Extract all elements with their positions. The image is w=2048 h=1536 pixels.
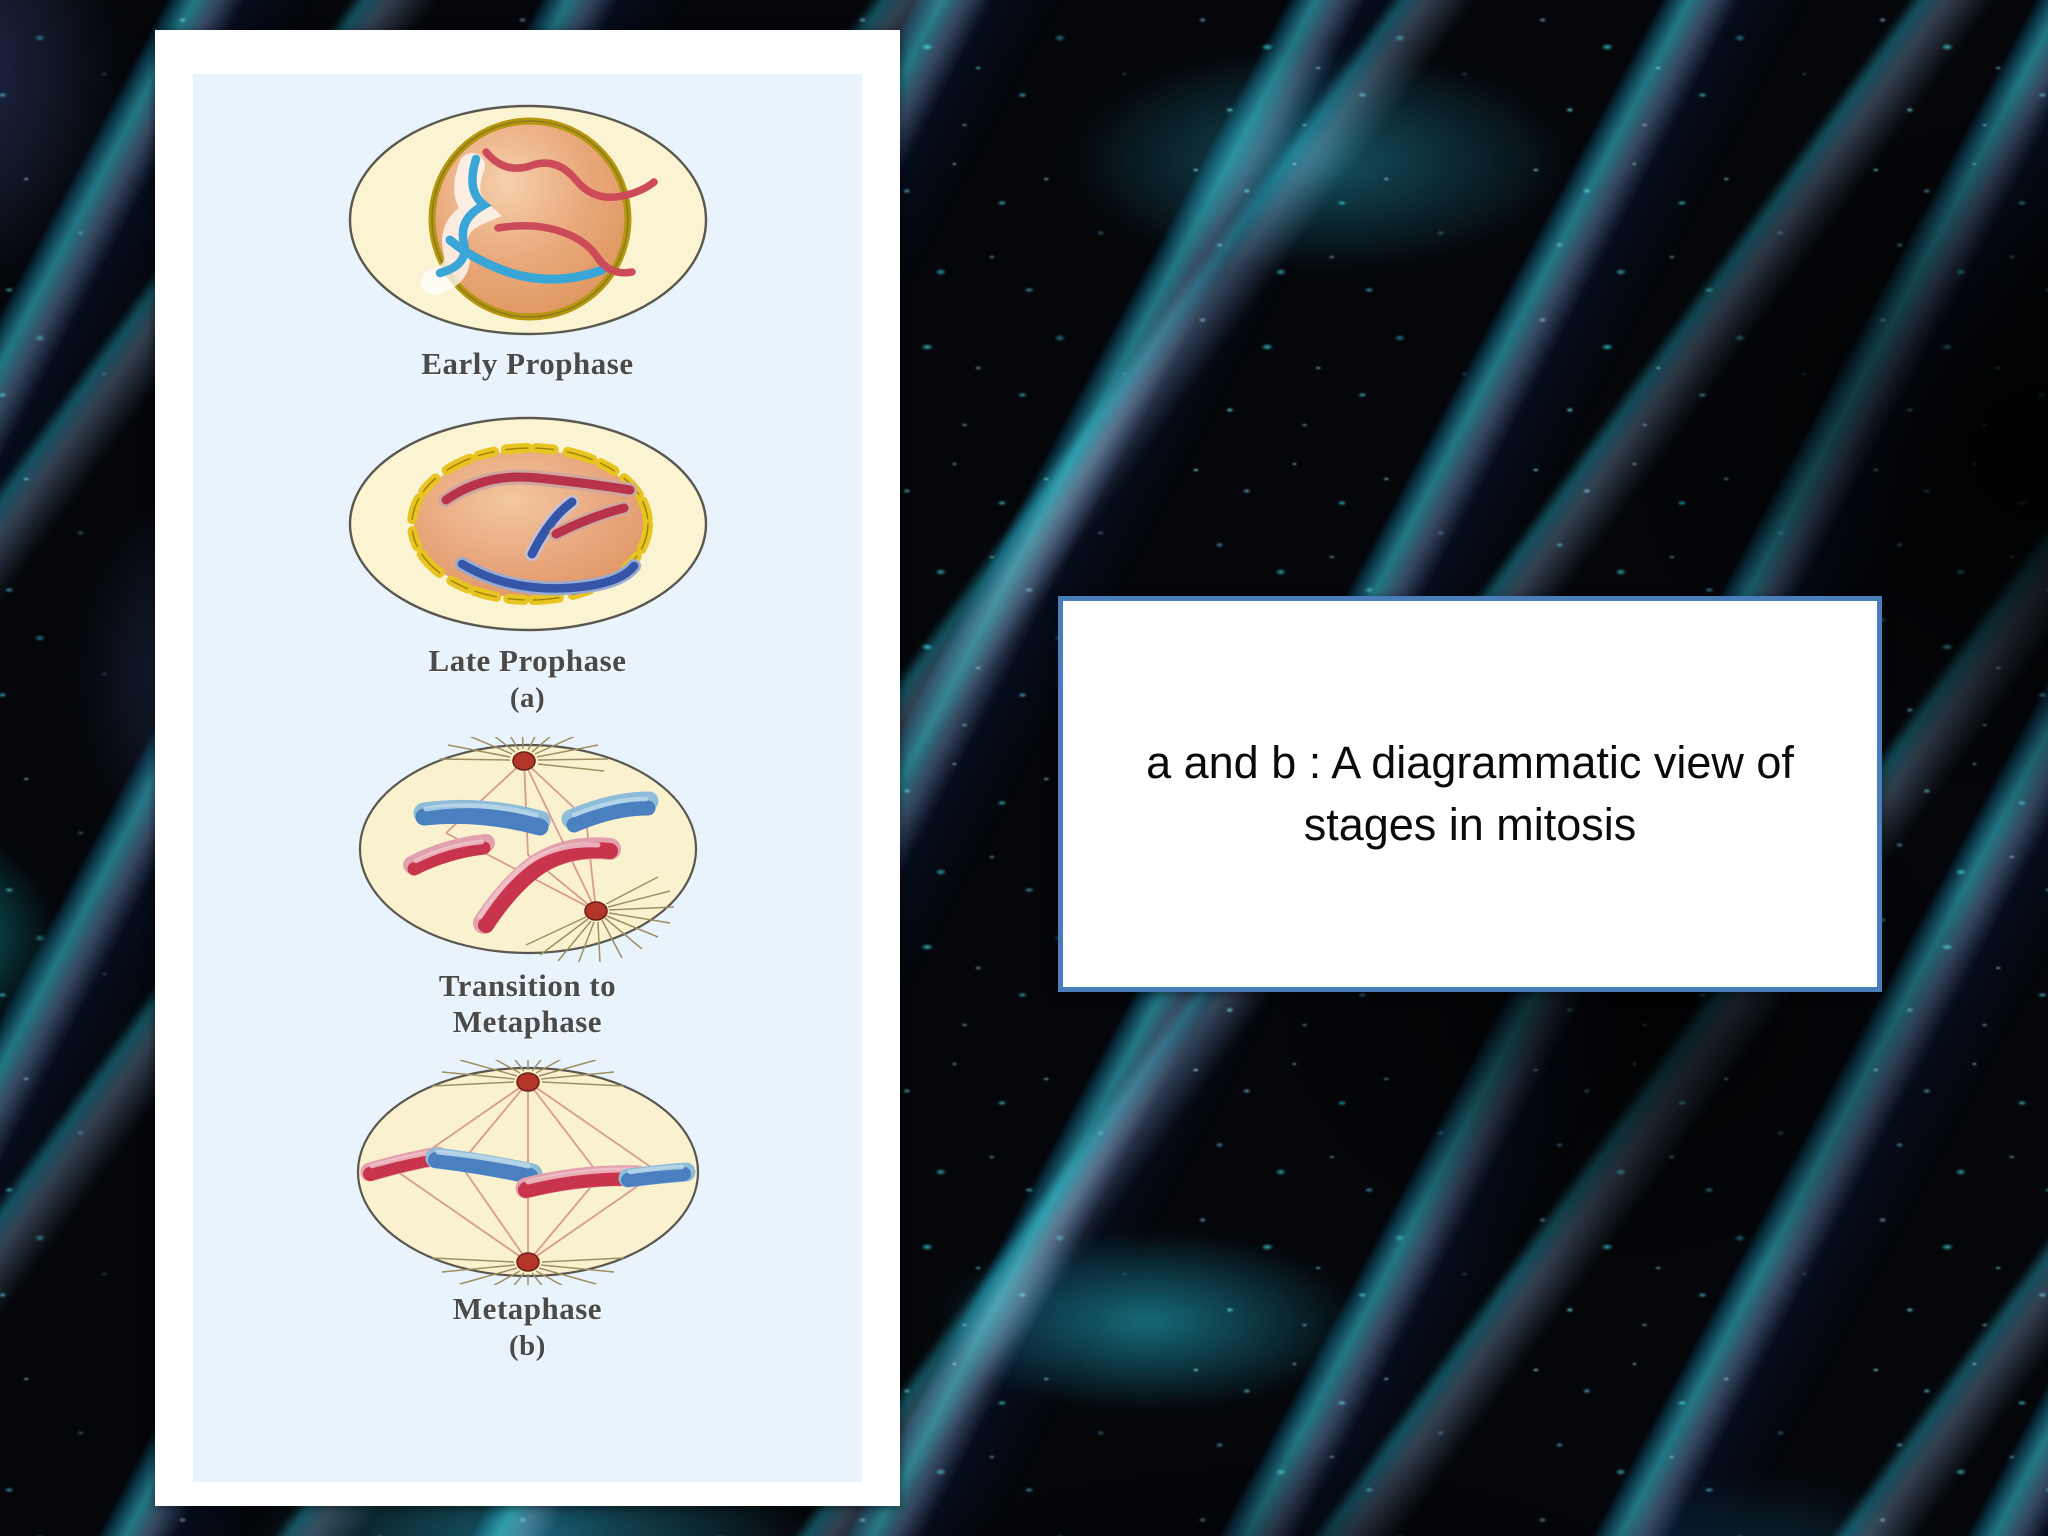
mitosis-stages-figure[interactable]: Early Prophase (155, 30, 900, 1506)
stage-early-prophase: Early Prophase (318, 100, 738, 382)
mitosis-figure-panel: Early Prophase (193, 74, 862, 1482)
late-prophase-cell-diagram (318, 412, 738, 637)
early-prophase-cell-diagram (318, 100, 738, 340)
transition-to-metaphase-cell-diagram (328, 737, 728, 962)
stage-label-transition: Transition to (439, 968, 616, 1004)
stage-transition-to-metaphase: Transition to Metaphase (328, 737, 728, 1040)
stage-late-prophase: Late Prophase (a) (318, 412, 738, 715)
stage-label-late-prophase: Late Prophase (429, 643, 627, 679)
stage-sublabel-b: (b) (509, 1329, 546, 1363)
metaphase-cell-diagram (328, 1060, 728, 1285)
stage-label-metaphase: Metaphase (453, 1291, 602, 1327)
stage-metaphase: Metaphase (b) (328, 1060, 728, 1363)
stage-label-early-prophase: Early Prophase (421, 346, 633, 382)
stage-sublabel-a: (a) (510, 681, 545, 715)
caption-text: a and b : A diagrammatic view of stages … (1110, 732, 1830, 856)
caption-textbox[interactable]: a and b : A diagrammatic view of stages … (1058, 596, 1882, 992)
stage-label-metaphase-word: Metaphase (453, 1004, 602, 1040)
